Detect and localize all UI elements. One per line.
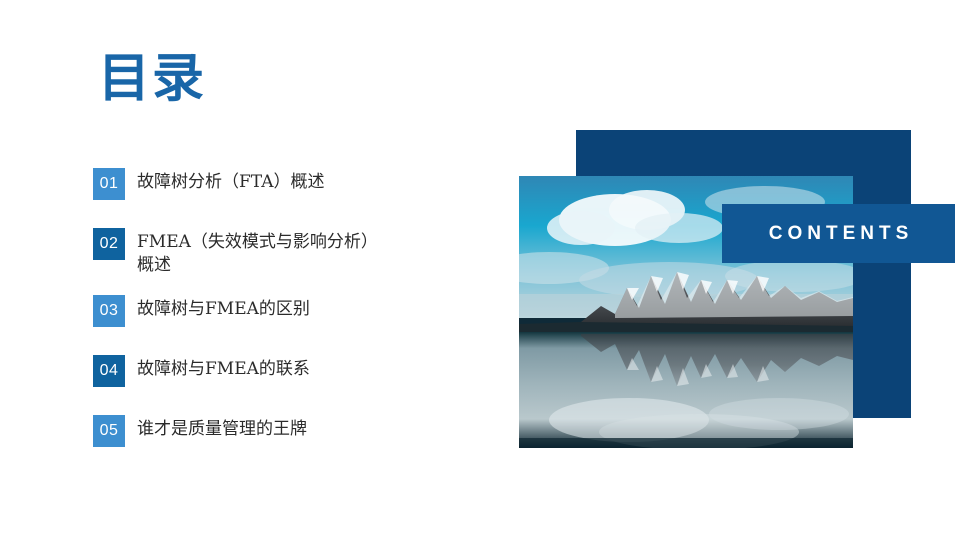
toc-number-badge: 01 — [93, 168, 125, 200]
toc-item-02[interactable]: 02 FMEA（失效模式与影响分析）概述 — [93, 228, 382, 277]
toc-item-label: 故障树分析（FTA）概述 — [137, 168, 324, 194]
toc-item-05[interactable]: 05 谁才是质量管理的王牌 — [93, 415, 307, 447]
toc-number-badge: 04 — [93, 355, 125, 387]
toc-item-01[interactable]: 01 故障树分析（FTA）概述 — [93, 168, 324, 200]
toc-number-badge: 02 — [93, 228, 125, 260]
toc-number-badge: 03 — [93, 295, 125, 327]
contents-banner: CONTENTS — [722, 204, 955, 263]
toc-item-label: 故障树与FMEA的区别 — [137, 295, 310, 321]
contents-banner-label: CONTENTS — [764, 223, 914, 245]
toc-item-label: 故障树与FMEA的联系 — [137, 355, 310, 381]
slide-canvas: 目录 01 故障树分析（FTA）概述 02 FMEA（失效模式与影响分析）概述 … — [0, 0, 960, 540]
toc-item-04[interactable]: 04 故障树与FMEA的联系 — [93, 355, 310, 387]
toc-item-03[interactable]: 03 故障树与FMEA的区别 — [93, 295, 310, 327]
toc-item-label: FMEA（失效模式与影响分析）概述 — [137, 228, 382, 277]
page-title: 目录 — [98, 48, 206, 110]
toc-item-label: 谁才是质量管理的王牌 — [137, 415, 307, 441]
toc-number-badge: 05 — [93, 415, 125, 447]
